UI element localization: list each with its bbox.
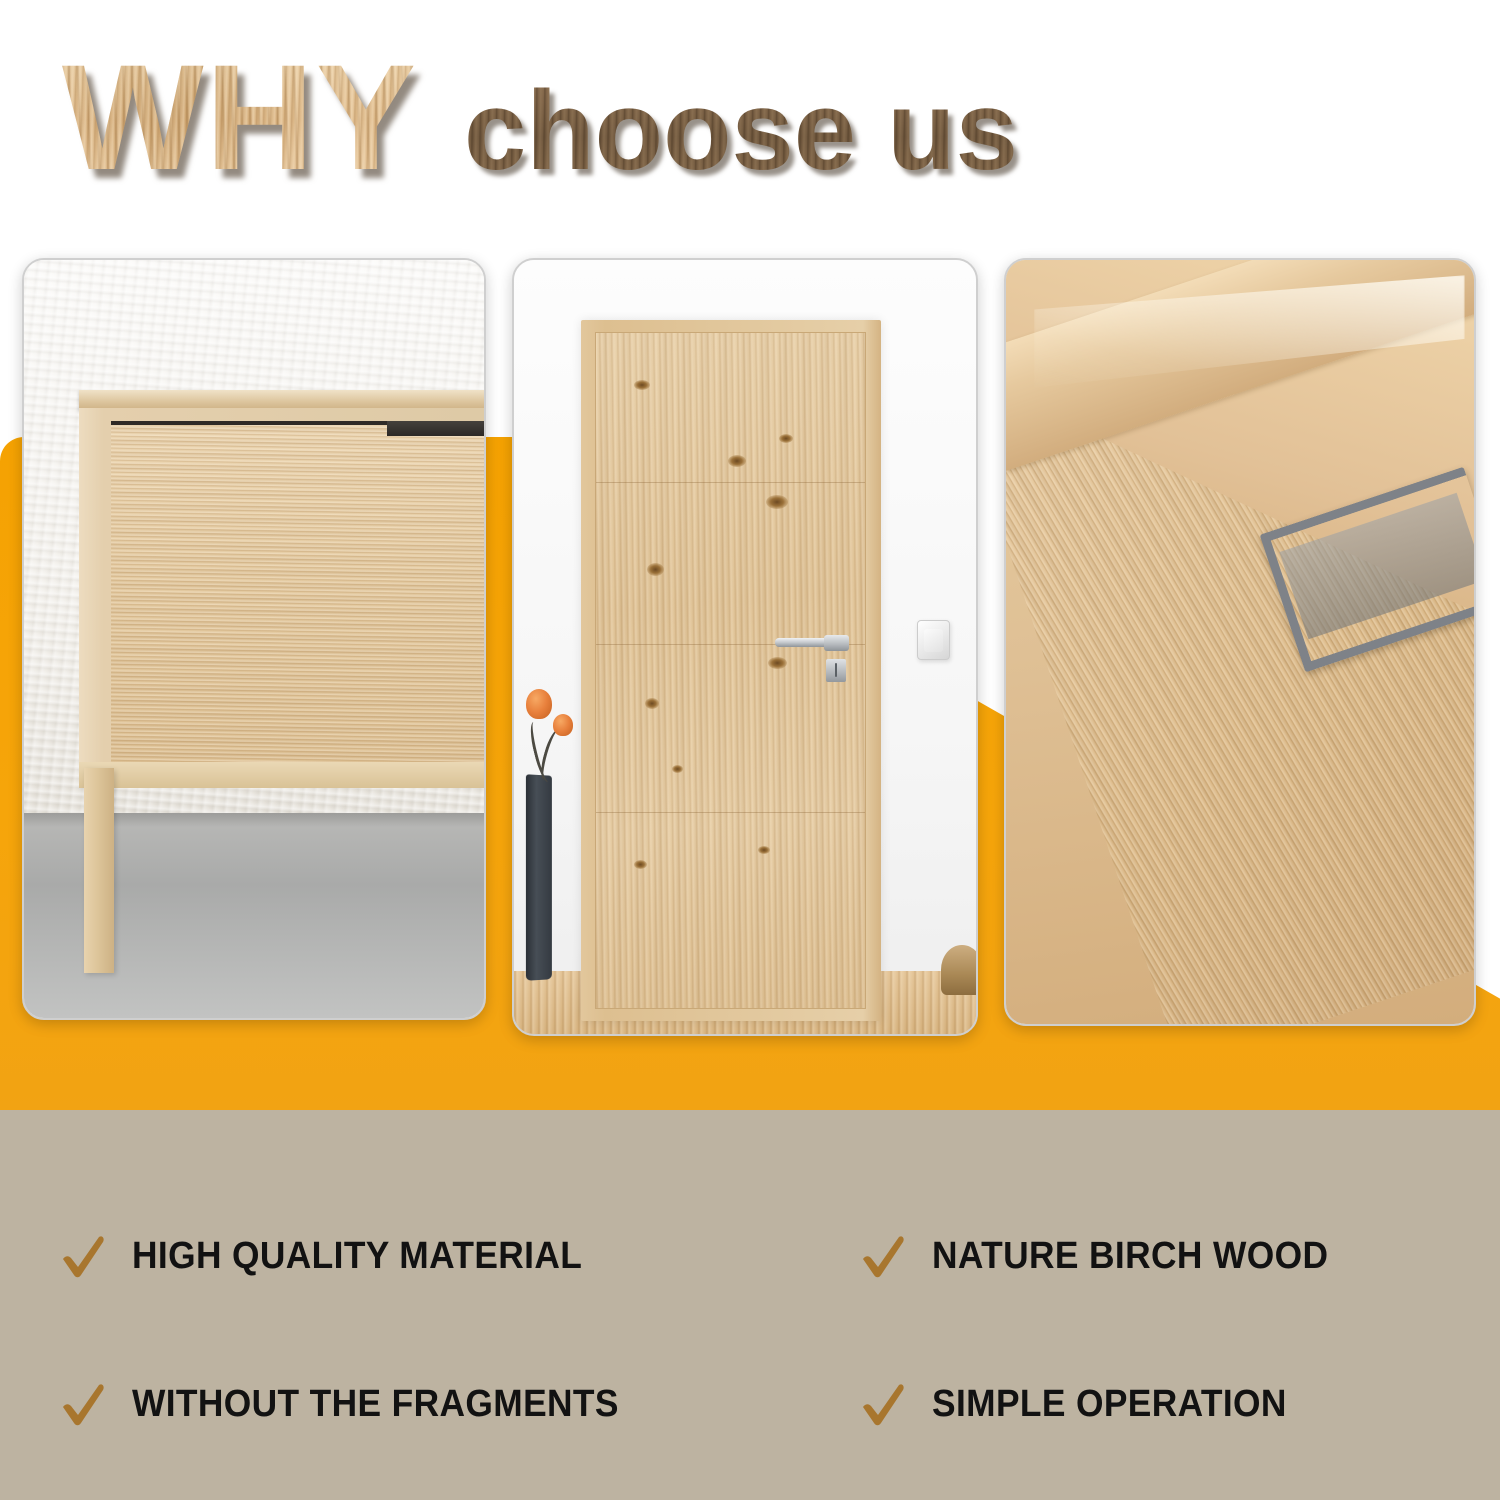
features-grid: HIGH QUALITY MATERIAL NATURE BIRCH WOOD … xyxy=(58,1182,1448,1478)
check-icon xyxy=(858,1230,910,1282)
feature-label: NATURE BIRCH WOOD xyxy=(932,1235,1328,1278)
dried-poppy-pod xyxy=(526,689,552,719)
wood-knot xyxy=(779,434,793,443)
feature-item-high-quality-material: HIGH QUALITY MATERIAL xyxy=(58,1182,858,1330)
wood-knot xyxy=(758,846,770,854)
birch-drawer-edge-photo xyxy=(1004,258,1476,1026)
wood-knot xyxy=(672,765,683,773)
feature-label: SIMPLE OPERATION xyxy=(932,1383,1287,1426)
feature-item-simple-operation: SIMPLE OPERATION xyxy=(858,1330,1448,1478)
cabinet-apron xyxy=(79,762,484,788)
infographic-root: WHY choose us xyxy=(0,0,1500,1500)
door-lever-handle xyxy=(775,638,830,648)
cabinet-handle xyxy=(387,421,484,435)
features-panel: HIGH QUALITY MATERIAL NATURE BIRCH WOOD … xyxy=(0,1110,1500,1500)
feature-item-nature-birch-wood: NATURE BIRCH WOOD xyxy=(858,1182,1448,1330)
dried-poppy-pod xyxy=(553,714,573,736)
check-icon xyxy=(58,1378,110,1430)
feature-label: HIGH QUALITY MATERIAL xyxy=(132,1235,582,1278)
floor-vase xyxy=(526,774,552,981)
page-title: WHY choose us xyxy=(62,42,1018,192)
birch-nightstand-photo xyxy=(22,258,486,1020)
wood-knot xyxy=(634,860,647,869)
cabinet-drawer-front xyxy=(111,421,484,773)
feature-item-without-the-fragments: WITHOUT THE FRAGMENTS xyxy=(58,1330,858,1478)
headline-word-why: WHY xyxy=(62,42,418,192)
oak-interior-door-photo xyxy=(512,258,978,1036)
check-icon xyxy=(58,1230,110,1282)
wood-knot xyxy=(766,495,788,509)
light-switch xyxy=(917,620,950,660)
cabinet-leg xyxy=(84,768,114,973)
wood-stool xyxy=(941,945,976,995)
door-handle-rose xyxy=(824,635,849,651)
check-icon xyxy=(858,1378,910,1430)
wood-knot xyxy=(768,657,787,669)
wood-knot xyxy=(728,455,746,467)
wood-knot xyxy=(645,698,659,709)
wood-knot xyxy=(647,563,664,576)
door-lock-cylinder xyxy=(826,659,846,681)
wood-knot xyxy=(634,380,650,390)
headline-word-choose-us: choose us xyxy=(464,75,1018,187)
feature-label: WITHOUT THE FRAGMENTS xyxy=(132,1383,619,1426)
